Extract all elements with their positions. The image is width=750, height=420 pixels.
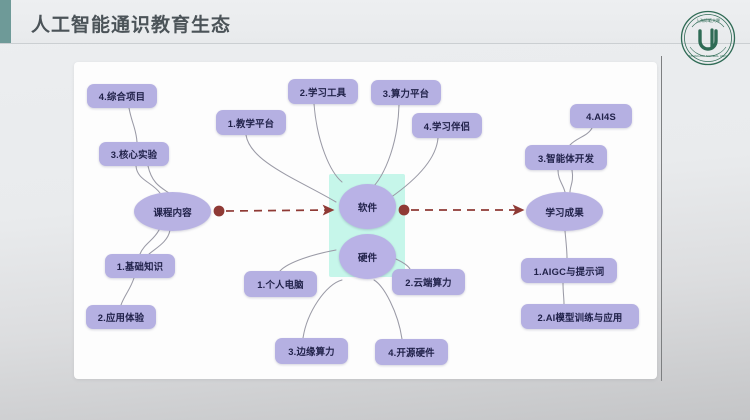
header-divider bbox=[0, 43, 750, 44]
node-software-4[interactable]: 4.学习伴侣 bbox=[412, 113, 482, 138]
node-hardware-2[interactable]: 2.云端算力 bbox=[392, 269, 465, 295]
node-software-3[interactable]: 3.算力平台 bbox=[371, 80, 441, 105]
hub-node-hardware[interactable]: 硬件 bbox=[339, 234, 396, 279]
vertical-divider bbox=[661, 56, 662, 381]
content-to-software-arrow bbox=[214, 206, 332, 217]
page-title: 人工智能通识教育生态 bbox=[31, 10, 231, 37]
accent-bar bbox=[0, 0, 11, 43]
node-right-4[interactable]: 4.AI4S bbox=[570, 104, 632, 128]
node-left-2[interactable]: 2.应用体验 bbox=[86, 305, 156, 329]
node-software-2[interactable]: 2.学习工具 bbox=[288, 79, 358, 104]
node-right-3[interactable]: 3.智能体开发 bbox=[525, 145, 607, 170]
hub-node-software[interactable]: 软件 bbox=[339, 184, 396, 229]
node-left-3[interactable]: 3.核心实验 bbox=[99, 142, 169, 166]
node-right-1[interactable]: 1.AIGC与提示词 bbox=[521, 258, 617, 283]
node-left-1[interactable]: 1.基础知识 bbox=[105, 254, 175, 278]
svg-text:SHANGHAI NORMAL UNIV: SHANGHAI NORMAL UNIV bbox=[689, 54, 728, 58]
node-right-2[interactable]: 2.AI模型训练与应用 bbox=[521, 304, 639, 329]
node-hardware-4[interactable]: 4.开源硬件 bbox=[375, 339, 448, 365]
pillar-node-course-content[interactable]: 课程内容 bbox=[134, 192, 211, 231]
mindmap-diagram: 软件 硬件 课程内容 学习成果 4.综合项目 3.核心实验 1.基础知识 2.应… bbox=[74, 62, 657, 379]
svg-text:上海師範大學: 上海師範大學 bbox=[696, 17, 720, 23]
pillar-node-learning-outcome[interactable]: 学习成果 bbox=[526, 192, 603, 231]
university-logo-icon: 上海師範大學 SHANGHAI NORMAL UNIV bbox=[679, 9, 737, 67]
node-hardware-3[interactable]: 3.边缘算力 bbox=[275, 338, 348, 364]
node-hardware-1[interactable]: 1.个人电脑 bbox=[244, 271, 317, 297]
diagram-card: 软件 硬件 课程内容 学习成果 4.综合项目 3.核心实验 1.基础知识 2.应… bbox=[74, 62, 657, 379]
node-left-4[interactable]: 4.综合项目 bbox=[87, 84, 157, 108]
software-to-outcome-arrow bbox=[399, 205, 522, 216]
slide-canvas: 人工智能通识教育生态 上海師範大學 SHANGHAI NORMAL UNIV bbox=[0, 0, 750, 420]
node-software-1[interactable]: 1.教学平台 bbox=[216, 110, 286, 135]
